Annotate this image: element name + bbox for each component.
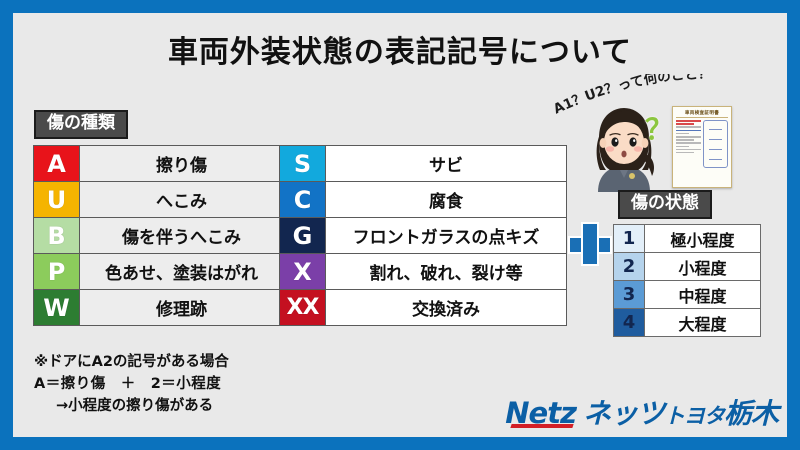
certificate-line — [676, 136, 701, 138]
note-line-1: ※ドアにA2の記号がある場合 — [34, 352, 229, 374]
damage-desc-cell: 色あせ、塗装はがれ — [80, 254, 284, 290]
damage-code-cell: W — [34, 290, 80, 326]
frame-top-border — [0, 0, 800, 13]
brand-region: 栃木 — [724, 397, 778, 430]
damage-kind-table: A 擦り傷 U へこみ B 傷を伴うへこみ P 色あせ、塗装はがれ W 修理跡 — [33, 145, 284, 326]
damage-desc-cell: 傷を伴うへこみ — [80, 218, 284, 254]
damage-desc-cell: 腐食 — [326, 182, 567, 218]
netz-toyota-logo: Netz ネッツトヨタ栃木 — [505, 392, 778, 432]
damage-desc-cell: へこみ — [80, 182, 284, 218]
certificate-line — [676, 130, 701, 132]
certificate-body — [676, 120, 728, 168]
table-row: W 修理跡 — [34, 290, 284, 326]
damage-kind-sub-table: S サビ C 腐食 G フロントガラスの点キズ X 割れ、破れ、裂け等 XX 交… — [279, 145, 567, 326]
certificate-line — [676, 146, 689, 148]
note-line-3: →小程度の擦り傷がある — [34, 396, 229, 418]
damage-code-cell: P — [34, 254, 80, 290]
certificate-line — [676, 123, 694, 125]
page-title: 車両外装状態の表記記号について — [0, 27, 800, 71]
state-number-cell: 4 — [614, 309, 645, 337]
damage-desc-cell: 割れ、破れ、裂け等 — [326, 254, 567, 290]
car-diagram-icon — [703, 120, 728, 168]
state-level-cell: 大程度 — [645, 309, 761, 337]
table-row: A 擦り傷 — [34, 146, 284, 182]
table-row: 2 小程度 — [614, 253, 761, 281]
damage-state-table: 1 極小程度 2 小程度 3 中程度 4 大程度 — [613, 224, 761, 337]
certificate-title: 車両検査証明書 — [676, 110, 728, 118]
state-level-cell: 極小程度 — [645, 225, 761, 253]
damage-code-cell: B — [34, 218, 80, 254]
table-row: B 傷を伴うへこみ — [34, 218, 284, 254]
brand-sub: トヨタ — [664, 404, 724, 428]
certificate-line — [676, 120, 701, 122]
damage-desc-cell: 交換済み — [326, 290, 567, 326]
table-row: P 色あせ、塗装はがれ — [34, 254, 284, 290]
table-row: XX 交換済み — [280, 290, 567, 326]
table-row: C 腐食 — [280, 182, 567, 218]
damage-code-cell: XX — [280, 290, 326, 326]
damage-code-cell: A — [34, 146, 80, 182]
certificate-line — [676, 142, 701, 144]
damage-code-cell: G — [280, 218, 326, 254]
table-row: S サビ — [280, 146, 567, 182]
certificate-line — [676, 139, 694, 141]
damage-desc-cell: サビ — [326, 146, 567, 182]
state-number-cell: 2 — [614, 253, 645, 281]
netz-wordmark: Netz — [505, 396, 576, 430]
slide-canvas: 車両外装状態の表記記号について A1？U2？って何のこと？ — [0, 0, 800, 450]
damage-code-cell: U — [34, 182, 80, 218]
brand-main: ネッツ — [583, 397, 664, 430]
frame-bottom-border — [0, 437, 800, 450]
damage-state-badge: 傷の状態 — [618, 190, 712, 219]
table-row: 1 極小程度 — [614, 225, 761, 253]
damage-desc-cell: 修理跡 — [80, 290, 284, 326]
table-row: 3 中程度 — [614, 281, 761, 309]
state-number-cell: 1 — [614, 225, 645, 253]
damage-desc-cell: フロントガラスの点キズ — [326, 218, 567, 254]
certificate-line — [676, 126, 701, 128]
table-row: G フロントガラスの点キズ — [280, 218, 567, 254]
inspection-certificate-illustration: 車両検査証明書 — [672, 106, 732, 188]
table-row: 4 大程度 — [614, 309, 761, 337]
question-mark-icon: ？ — [645, 108, 673, 148]
certificate-line — [676, 152, 694, 154]
state-level-cell: 小程度 — [645, 253, 761, 281]
plus-sign-icon — [568, 222, 612, 266]
damage-code-cell: X — [280, 254, 326, 290]
damage-kind-badge: 傷の種類 — [34, 110, 128, 139]
state-level-cell: 中程度 — [645, 281, 761, 309]
certificate-line — [676, 149, 701, 151]
certificate-left-column — [676, 120, 701, 168]
certificate-line — [676, 133, 689, 135]
damage-desc-cell: 擦り傷 — [80, 146, 284, 182]
state-number-cell: 3 — [614, 281, 645, 309]
table-row: U へこみ — [34, 182, 284, 218]
damage-code-cell: C — [280, 182, 326, 218]
table-row: X 割れ、破れ、裂け等 — [280, 254, 567, 290]
damage-code-cell: S — [280, 146, 326, 182]
example-note: ※ドアにA2の記号がある場合 A＝擦り傷 ＋ 2＝小程度 →小程度の擦り傷がある — [34, 352, 229, 417]
note-line-2: A＝擦り傷 ＋ 2＝小程度 — [34, 374, 229, 396]
certificate-right-column — [703, 120, 728, 168]
brand-name-japanese: ネッツトヨタ栃木 — [583, 392, 778, 432]
